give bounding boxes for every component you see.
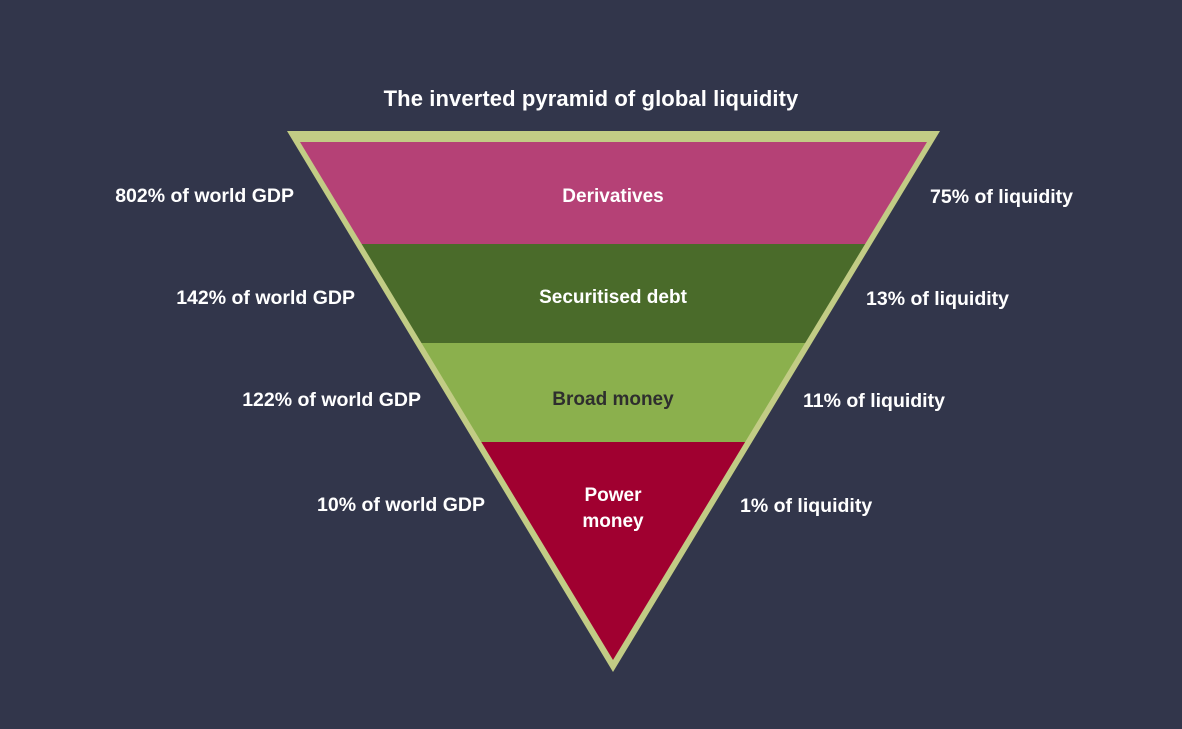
band-derivatives	[260, 142, 960, 244]
liquidity-label-broad-money: 11% of liquidity	[803, 390, 945, 413]
gdp-label-power-money: 10% of world GDP	[0, 494, 485, 517]
inverted-pyramid-diagram	[0, 0, 1182, 729]
infographic-canvas: The inverted pyramid of global liquidity…	[0, 0, 1182, 729]
liquidity-label-securitised-debt: 13% of liquidity	[866, 288, 1009, 311]
band-power-money	[260, 442, 960, 672]
gdp-label-derivatives: 802% of world GDP	[0, 185, 294, 208]
liquidity-label-derivatives: 75% of liquidity	[930, 186, 1073, 209]
gdp-label-broad-money: 122% of world GDP	[0, 389, 421, 412]
liquidity-label-power-money: 1% of liquidity	[740, 495, 872, 518]
gdp-label-securitised-debt: 142% of world GDP	[0, 287, 355, 310]
